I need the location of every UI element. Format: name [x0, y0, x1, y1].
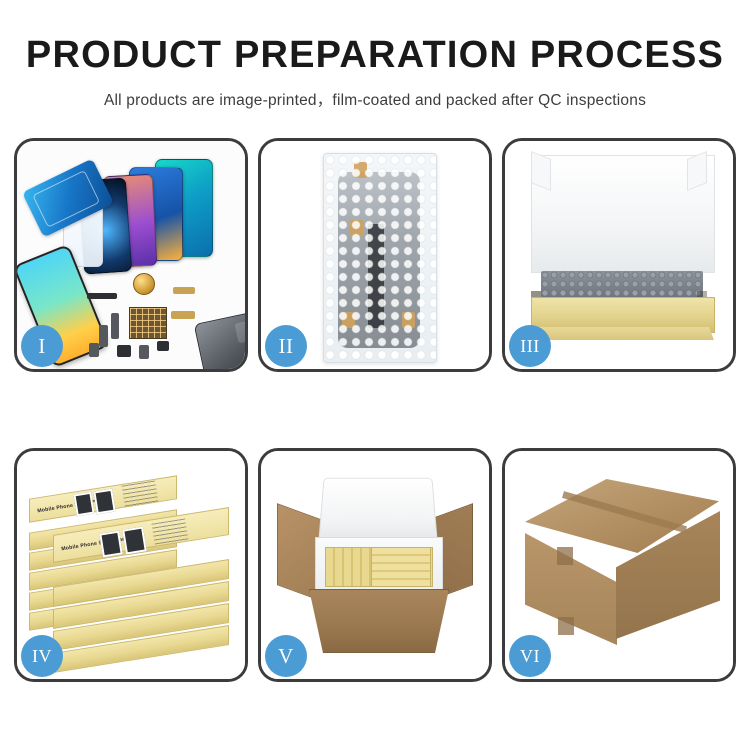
part-icon — [111, 313, 119, 339]
step-badge-3: III — [509, 325, 551, 367]
step-panel-6: VI — [502, 448, 736, 682]
process-steps-grid: I II — [14, 138, 736, 682]
tape-icon — [402, 312, 415, 328]
page-subtitle: All products are image-printed，film-coat… — [0, 88, 750, 110]
part-icon — [89, 343, 99, 357]
box-thumbnail — [73, 492, 94, 517]
part-icon — [99, 325, 108, 347]
box-stack: Mobile Phone Spare Parts Mobile Phone Sp… — [25, 469, 243, 669]
part-icon — [117, 345, 131, 357]
yellow-boxes-inside — [371, 547, 431, 587]
step-badge-2: II — [265, 325, 307, 367]
part-icon — [139, 345, 149, 359]
box-thumbnail — [99, 531, 123, 558]
product-preparation-infographic: PRODUCT PREPARATION PROCESS All products… — [0, 0, 750, 750]
step-panel-1: I — [14, 138, 248, 372]
box-thumbnail — [93, 489, 115, 515]
tape-icon — [354, 162, 367, 178]
chip-icon — [129, 307, 167, 339]
page-title: PRODUCT PREPARATION PROCESS — [0, 36, 750, 76]
box-thumbnail — [122, 527, 147, 555]
step-badge-1: I — [21, 325, 63, 367]
carton-tab — [558, 617, 574, 635]
foam-cooler-lid — [318, 478, 438, 544]
part-icon — [171, 311, 195, 319]
part-icon — [173, 287, 195, 294]
part-icon — [87, 293, 117, 299]
phone-back-housing-icon — [194, 311, 245, 369]
bubble-wrap-bag — [323, 153, 437, 363]
flex-cable-icon — [368, 224, 384, 328]
step-panel-4: Mobile Phone Spare Parts Mobile Phone Sp… — [14, 448, 248, 682]
step-badge-4: IV — [21, 635, 63, 677]
vibrator-motor-icon — [133, 273, 155, 295]
part-icon — [157, 341, 169, 351]
tape-icon — [342, 312, 355, 328]
step-panel-5: V — [258, 448, 492, 682]
carton-tab — [557, 547, 573, 565]
step-badge-6: VI — [509, 635, 551, 677]
step-panel-2: II — [258, 138, 492, 372]
box-tray-front — [530, 327, 714, 340]
header: PRODUCT PREPARATION PROCESS All products… — [0, 0, 750, 110]
tape-icon — [350, 220, 363, 236]
spare-parts-cluster — [87, 271, 245, 369]
step-panel-3: III — [502, 138, 736, 372]
step-badge-5: V — [265, 635, 307, 677]
carton-front — [309, 589, 449, 653]
box-spec-text — [121, 480, 158, 507]
